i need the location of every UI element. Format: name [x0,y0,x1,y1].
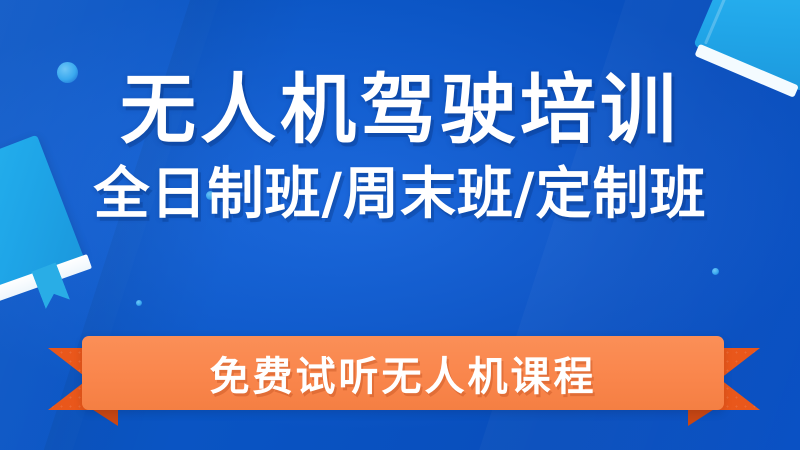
ribbon-panel[interactable]: 免费试听无人机课程 [82,336,724,410]
promo-banner: 无人机驾驶培训 全日制班/周末班/定制班 免费试听无人机课程 [0,0,800,450]
promo-ribbon: 免费试听无人机课程 [0,330,800,426]
book-spine [704,0,757,45]
page-subtitle: 全日制班/周末班/定制班 [0,166,800,222]
decorative-dot [136,300,142,306]
decorative-dot [712,268,719,275]
page-title: 无人机驾驶培训 [0,72,800,148]
headline-block: 无人机驾驶培训 全日制班/周末班/定制班 [0,72,800,222]
ribbon-cta-label: 免费试听无人机课程 [210,344,597,402]
